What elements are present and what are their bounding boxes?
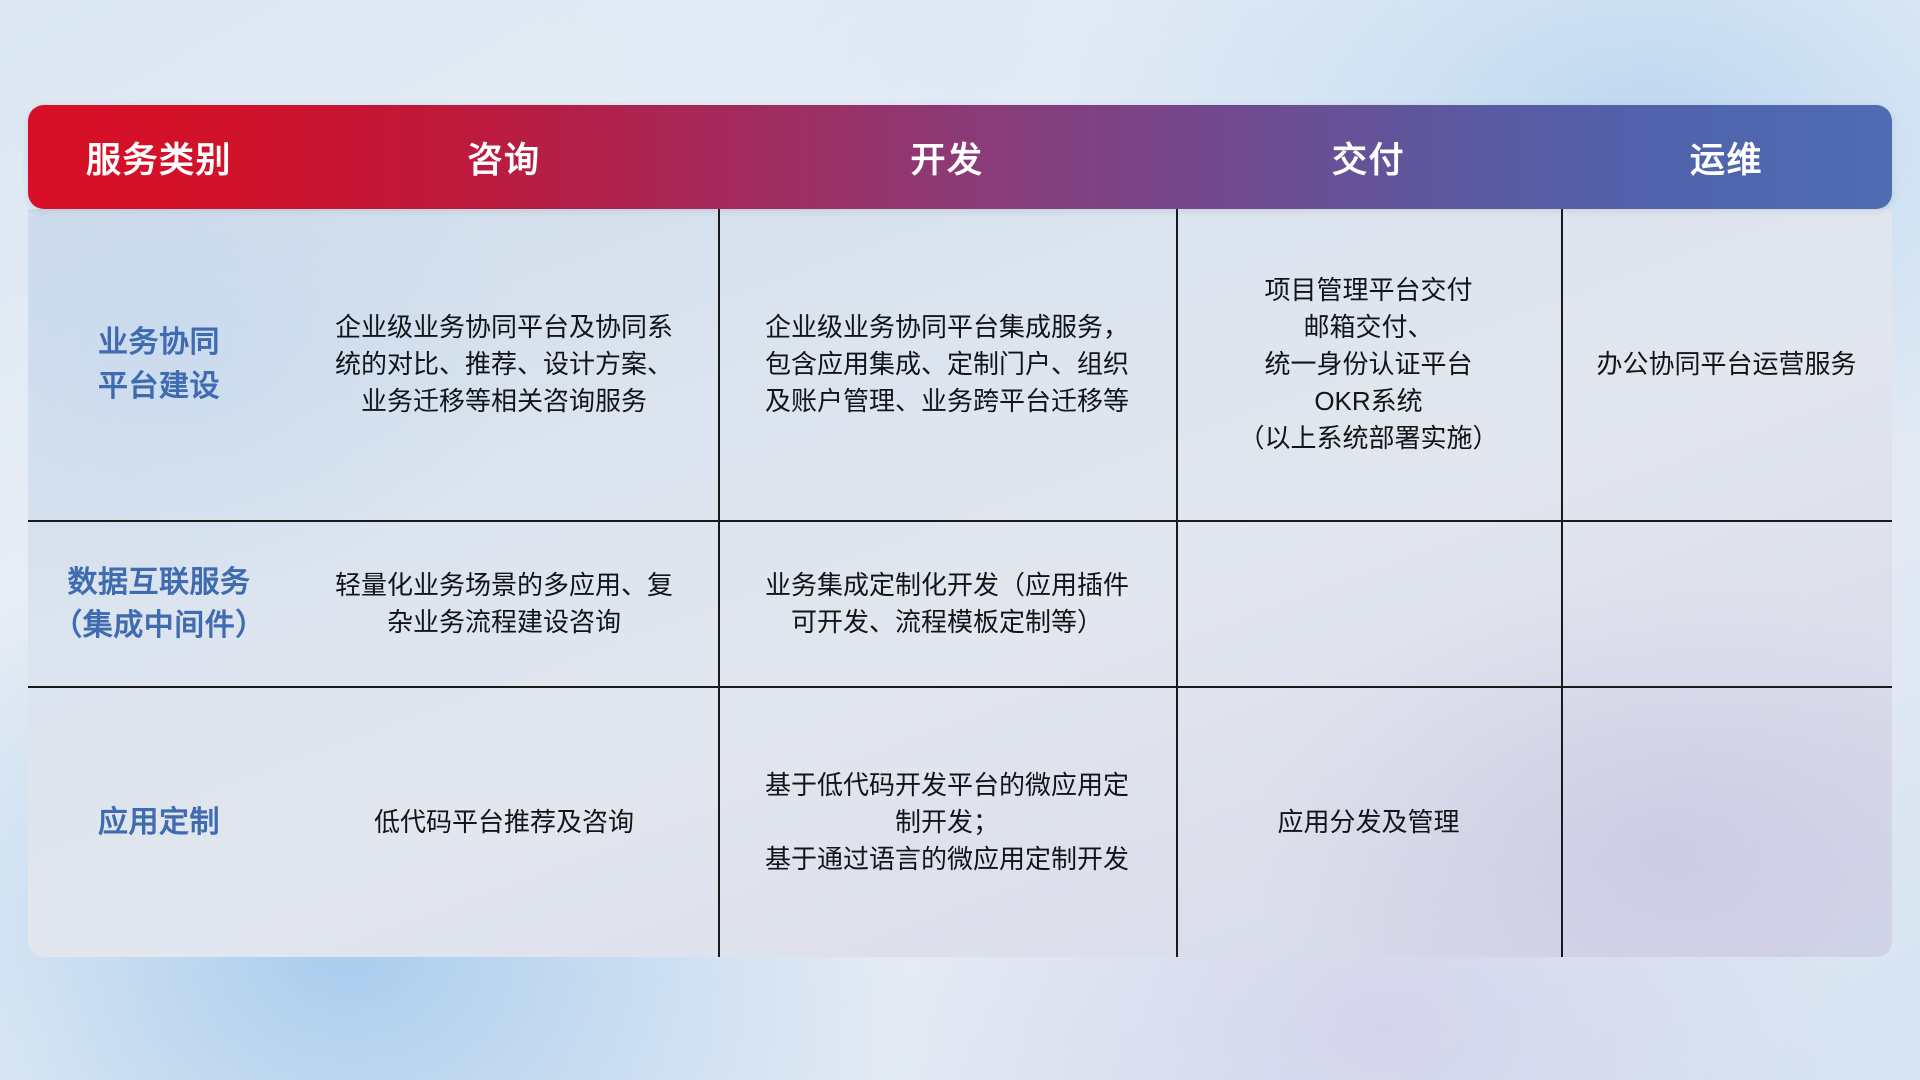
row-divider-2 xyxy=(28,686,1892,688)
cell-operations-row1: 办公协同平台运营服务 xyxy=(1561,209,1892,520)
table-body: 业务协同 平台建设 企业级业务协同平台及协同系 统的对比、推荐、设计方案、 业务… xyxy=(28,209,1892,957)
cell-category-row2: 数据互联服务 （集成中间件） xyxy=(28,522,290,686)
table-header-row: 服务类别 咨询 开发 交付 运维 xyxy=(28,105,1892,209)
column-header-delivery: 交付 xyxy=(1176,132,1561,183)
cell-category-row3: 应用定制 xyxy=(28,688,290,957)
table-row: 应用定制 低代码平台推荐及咨询 基于低代码开发平台的微应用定 制开发； 基于通过… xyxy=(28,688,1892,957)
cell-delivery-row1: 项目管理平台交付 邮箱交付、 统一身份认证平台 OKR系统 （以上系统部署实施） xyxy=(1176,209,1561,520)
cell-delivery-row2 xyxy=(1176,522,1561,686)
cell-category-row1: 业务协同 平台建设 xyxy=(28,209,290,520)
cell-operations-row2 xyxy=(1561,522,1892,686)
column-divider-development-delivery xyxy=(1176,209,1178,957)
column-header-consulting: 咨询 xyxy=(290,132,718,183)
column-header-operations: 运维 xyxy=(1561,132,1892,183)
column-divider-consulting-development xyxy=(718,209,720,957)
table-row: 数据互联服务 （集成中间件） 轻量化业务场景的多应用、复 杂业务流程建设咨询 业… xyxy=(28,522,1892,686)
column-divider-delivery-operations xyxy=(1561,209,1563,957)
slide-canvas: 服务类别 咨询 开发 交付 运维 业务协同 平台建设 企业级业务协同平台及协同系… xyxy=(0,0,1920,1080)
cell-consulting-row2: 轻量化业务场景的多应用、复 杂业务流程建设咨询 xyxy=(290,522,718,686)
column-header-category: 服务类别 xyxy=(28,132,290,183)
cell-consulting-row1: 企业级业务协同平台及协同系 统的对比、推荐、设计方案、 业务迁移等相关咨询服务 xyxy=(290,209,718,520)
cell-development-row3: 基于低代码开发平台的微应用定 制开发； 基于通过语言的微应用定制开发 xyxy=(718,688,1176,957)
cell-operations-row3 xyxy=(1561,688,1892,957)
cell-consulting-row3: 低代码平台推荐及咨询 xyxy=(290,688,718,957)
cell-delivery-row3: 应用分发及管理 xyxy=(1176,688,1561,957)
table-row: 业务协同 平台建设 企业级业务协同平台及协同系 统的对比、推荐、设计方案、 业务… xyxy=(28,209,1892,520)
column-header-development: 开发 xyxy=(718,132,1176,183)
cell-development-row2: 业务集成定制化开发（应用插件 可开发、流程模板定制等） xyxy=(718,522,1176,686)
service-matrix-table: 服务类别 咨询 开发 交付 运维 业务协同 平台建设 企业级业务协同平台及协同系… xyxy=(28,105,1892,957)
cell-development-row1: 企业级业务协同平台集成服务， 包含应用集成、定制门户、组织 及账户管理、业务跨平… xyxy=(718,209,1176,520)
row-divider-1 xyxy=(28,520,1892,522)
